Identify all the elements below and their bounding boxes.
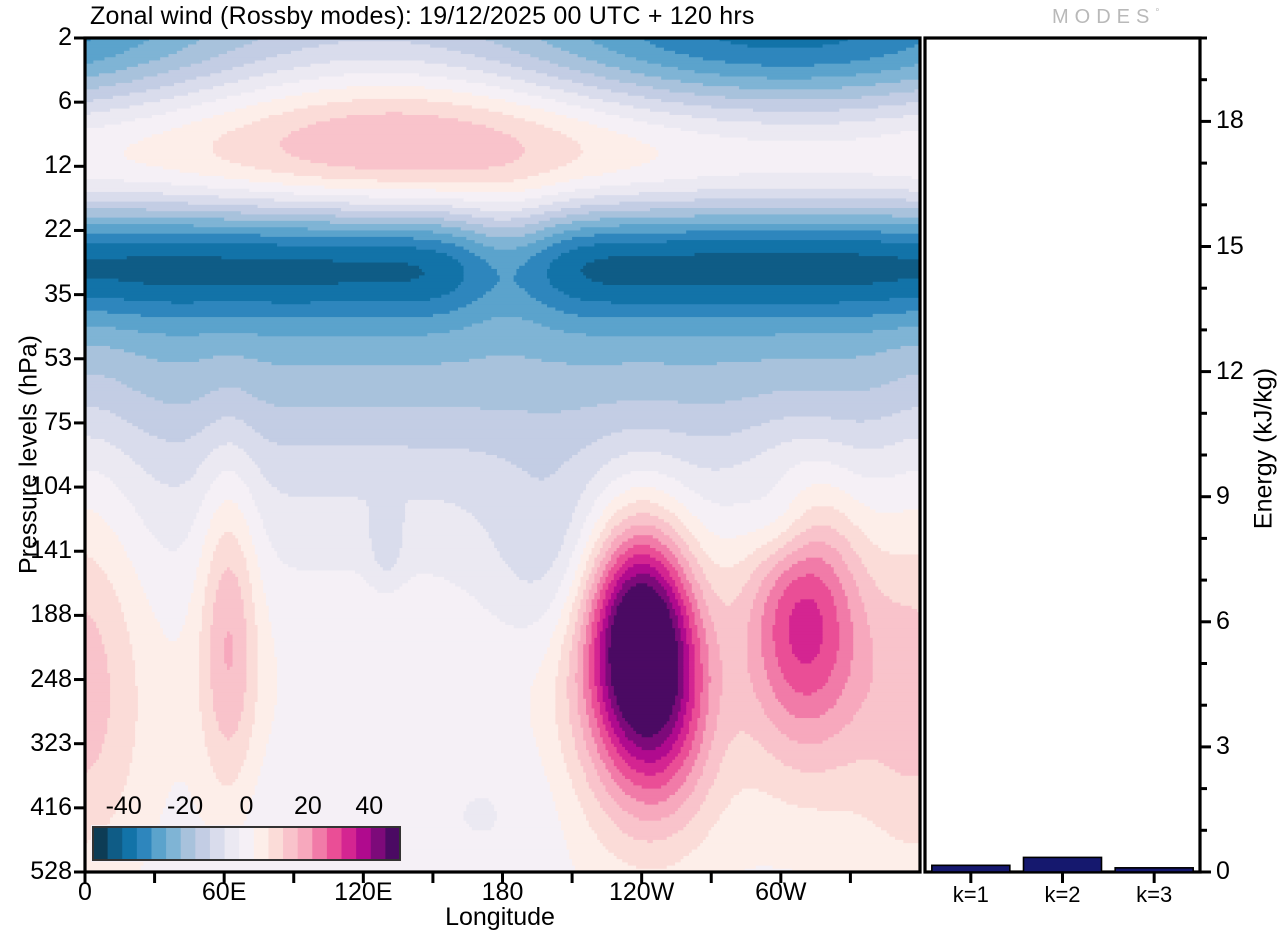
- colorbar-swatch-12: [268, 827, 283, 860]
- colorbar-swatch-20: [385, 827, 400, 860]
- colorbar-swatch-4: [151, 827, 166, 860]
- colorbar-swatch-2: [122, 827, 137, 860]
- colorbar-swatch-7: [195, 827, 210, 860]
- colorbar-swatch-9: [225, 827, 240, 860]
- right-tick-3: 3: [1216, 734, 1230, 759]
- left-tick-416: 416: [2, 795, 72, 820]
- contour-field: [85, 38, 921, 873]
- energy-bar-k=2: [1024, 857, 1102, 872]
- colorbar-swatch-16: [327, 827, 342, 860]
- left-tick-12: 12: [2, 153, 72, 178]
- right-tick-9: 9: [1216, 484, 1230, 509]
- colorbar-swatch-19: [371, 827, 386, 860]
- colorbar-swatch-3: [137, 827, 152, 860]
- bottom-tick-0: 0: [25, 880, 145, 905]
- left-tick-6: 6: [2, 89, 72, 114]
- left-tick-323: 323: [2, 731, 72, 756]
- bottom-tick-120E: 120E: [303, 880, 423, 905]
- colorbar-swatches: [91, 825, 402, 862]
- bottom-tick-60E: 60E: [164, 880, 284, 905]
- colorbar-swatch-5: [166, 827, 181, 860]
- colorbar-swatch-13: [283, 827, 298, 860]
- colorbar-swatch-0: [93, 827, 108, 860]
- energy-bar-k=3: [1115, 868, 1193, 872]
- figure-canvas: Zonal wind (Rossby modes): 19/12/2025 00…: [0, 0, 1280, 942]
- colorbar-swatch-14: [298, 827, 313, 860]
- bottom-tick-120W: 120W: [582, 880, 702, 905]
- colorbar-swatch-18: [356, 827, 371, 860]
- colorbar-swatch-17: [342, 827, 357, 860]
- left-tick-2: 2: [2, 25, 72, 50]
- right-tick-0: 0: [1216, 859, 1230, 884]
- right-tick-12: 12: [1216, 359, 1244, 384]
- colorbar-tick-40: 40: [324, 794, 414, 819]
- left-tick-248: 248: [2, 667, 72, 692]
- colorbar-swatch-15: [312, 827, 327, 860]
- right-tick-15: 15: [1216, 234, 1244, 259]
- energy-tick-k=3: k=3: [1099, 884, 1209, 906]
- colorbar-swatch-1: [108, 827, 123, 860]
- energy-bars: [932, 857, 1193, 872]
- bottom-axis-title: Longitude: [350, 903, 650, 932]
- bottom-tick-180: 180: [443, 880, 563, 905]
- colorbar-swatch-6: [181, 827, 196, 860]
- left-tick-22: 22: [2, 217, 72, 242]
- left-axis-title: Pressure levels (hPa): [15, 295, 44, 615]
- bottom-tick-60W: 60W: [721, 880, 841, 905]
- colorbar-swatch-8: [210, 827, 225, 860]
- right-axis-title: Energy (kJ/kg): [1250, 289, 1279, 609]
- energy-bar-k=1: [932, 865, 1010, 872]
- right-tick-18: 18: [1216, 108, 1244, 133]
- right-tick-6: 6: [1216, 609, 1230, 634]
- colorbar-swatch-11: [254, 827, 269, 860]
- colorbar-swatch-10: [239, 827, 254, 860]
